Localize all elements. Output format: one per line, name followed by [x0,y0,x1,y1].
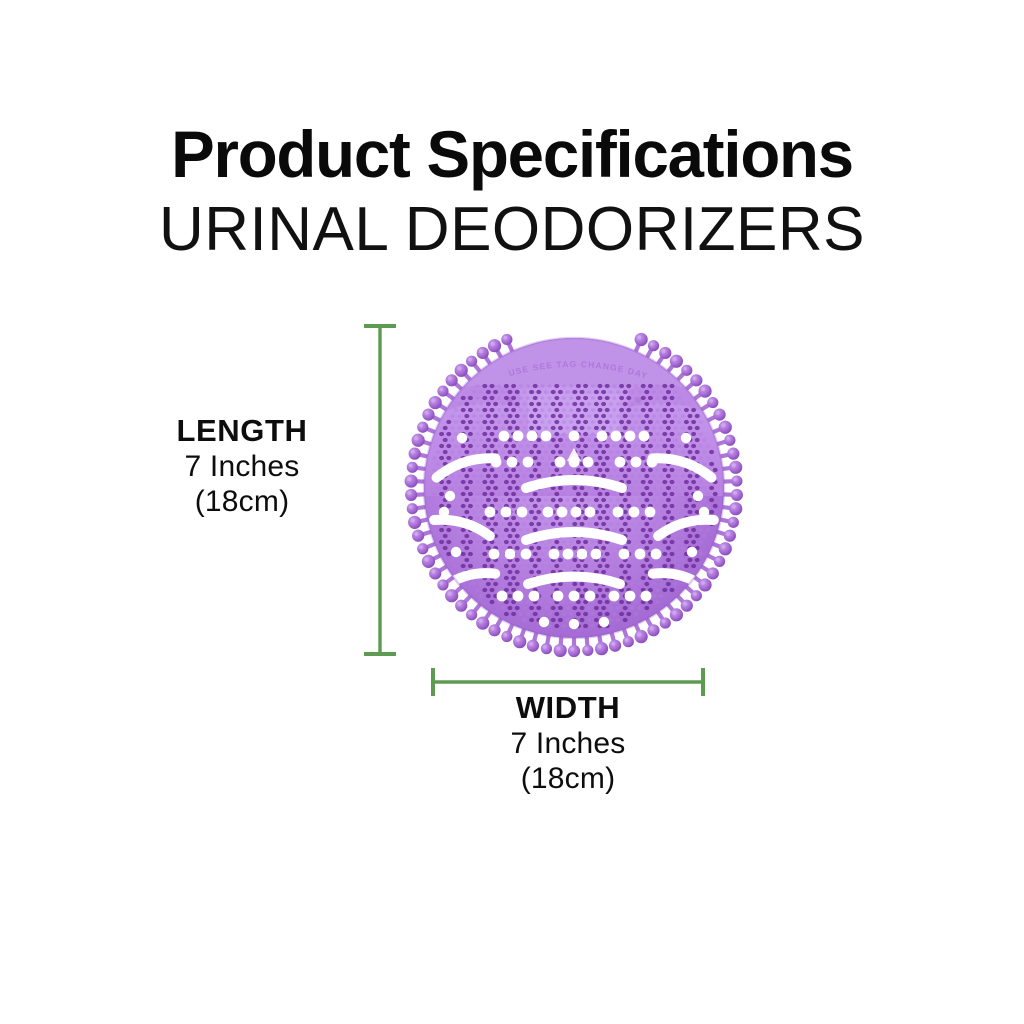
length-metric: (18cm) [118,484,366,519]
length-dimension-line [360,318,400,662]
width-title: WIDTH [442,690,694,726]
heading-block: Product Specifications URINAL DEODORIZER… [0,118,1024,264]
length-value: 7 Inches [118,449,366,484]
product-image: USE SEE TAG CHANGE DAY [392,316,756,660]
page-title: Product Specifications [5,118,1019,190]
page-subtitle: URINAL DEODORIZERS [0,196,1024,264]
width-label-group: WIDTH 7 Inches (18cm) [442,690,694,796]
length-label-group: LENGTH 7 Inches (18cm) [118,413,366,519]
length-title: LENGTH [118,413,366,449]
width-value: 7 Inches [442,726,694,761]
page-canvas: Product Specifications URINAL DEODORIZER… [0,0,1024,1024]
width-metric: (18cm) [442,761,694,796]
